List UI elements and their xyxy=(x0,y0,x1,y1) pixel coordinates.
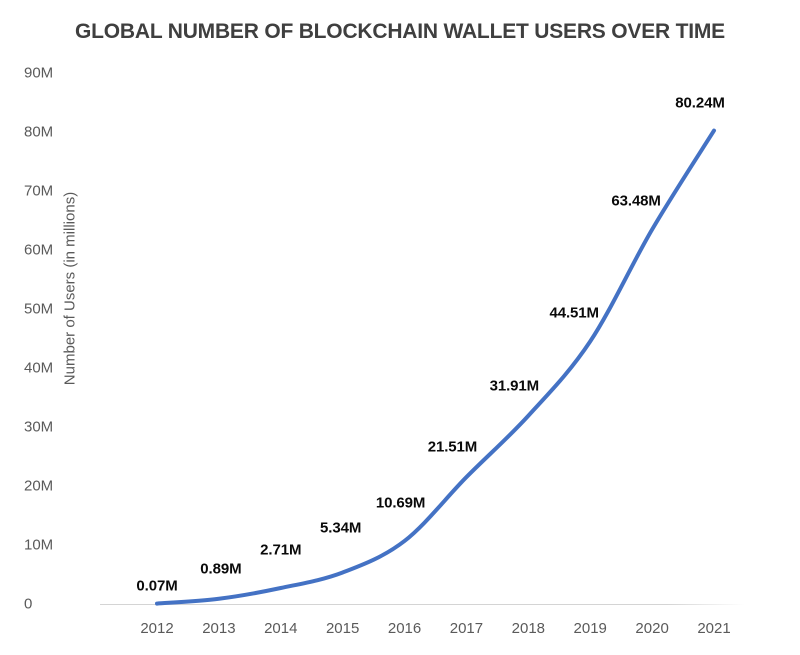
data-label-2012: 0.07M xyxy=(136,577,177,594)
data-label-2014: 2.71M xyxy=(260,542,301,559)
data-label-2018: 31.91M xyxy=(490,377,539,394)
data-label-2017: 21.51M xyxy=(428,439,477,456)
data-label-2015: 5.34M xyxy=(320,520,361,537)
data-label-2020: 63.48M xyxy=(611,193,660,210)
data-label-2013: 0.89M xyxy=(200,560,241,577)
data-label-2016: 10.69M xyxy=(376,494,425,511)
chart-container: GLOBAL NUMBER OF BLOCKCHAIN WALLET USERS… xyxy=(0,0,800,655)
data-label-2019: 44.51M xyxy=(550,305,599,322)
data-label-2021: 80.24M xyxy=(675,94,724,111)
